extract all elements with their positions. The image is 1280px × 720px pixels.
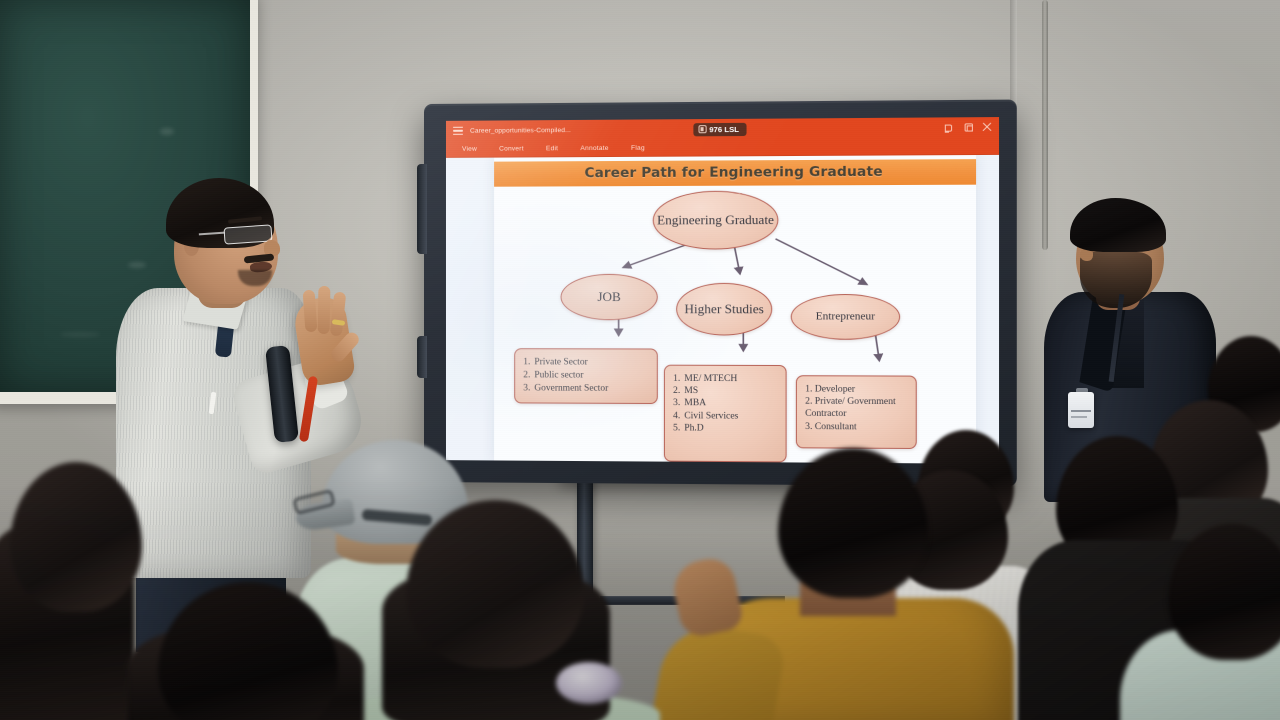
slide-page: Career Path for Engineering Graduate	[494, 155, 976, 464]
slide-title-banner: Career Path for Engineering Graduate	[494, 159, 976, 187]
list-item: 4.Civil Services	[673, 410, 778, 423]
finger	[318, 286, 331, 334]
node-job: JOB	[561, 274, 658, 320]
shield-icon	[698, 125, 706, 133]
node-label: Entrepreneur	[816, 311, 875, 324]
item-text: ME/ MTECH	[684, 373, 737, 386]
item-text: Government Sector	[534, 382, 608, 395]
node-engineering-graduate: Engineering Graduate	[653, 191, 779, 250]
list-item: 2. Private/ Government Contractor	[805, 396, 908, 421]
list-item: 3. Consultant	[805, 421, 908, 434]
menu-item-annotate[interactable]: Annotate	[580, 144, 608, 151]
node-label: Higher Studies	[684, 302, 763, 317]
display-bezel: Career_opportunities-Compiled... 976 LSL	[424, 100, 1017, 487]
classroom-scene: Career_opportunities-Compiled... 976 LSL	[0, 0, 1280, 720]
list-item: 2.MS	[673, 385, 778, 398]
node-label: JOB	[597, 290, 620, 305]
item-number: 3.	[805, 422, 812, 432]
slide-title: Career Path for Engineering Graduate	[585, 165, 883, 182]
document-filename: Career_opportunities-Compiled...	[470, 127, 571, 135]
window-controls[interactable]	[945, 123, 992, 132]
lsl-badge: 976 LSL	[693, 122, 746, 135]
item-number: 1.	[673, 373, 680, 385]
close-icon[interactable]	[982, 123, 991, 132]
list-item: 1.Private Sector	[523, 356, 649, 369]
item-text: Private/ Government Contractor	[805, 397, 896, 420]
list-item: 2.Public sector	[523, 369, 649, 382]
lsl-badge-text: 976 LSL	[709, 124, 739, 133]
finger	[303, 290, 318, 333]
id-badge	[1068, 392, 1094, 428]
audience-member-mustard-shirt	[700, 448, 1000, 720]
item-text: Private Sector	[534, 356, 587, 369]
item-number: 3.	[523, 382, 530, 395]
node-higher-studies: Higher Studies	[676, 283, 772, 336]
display-screen[interactable]: Career_opportunities-Compiled... 976 LSL	[446, 117, 999, 464]
display-side-port	[417, 336, 427, 378]
item-text: Public sector	[534, 369, 583, 382]
item-text: Developer	[815, 384, 855, 394]
item-text: Ph.D	[684, 422, 703, 434]
box-job-options: 1.Private Sector 2.Public sector 3.Gover…	[514, 348, 658, 404]
item-number: 2.	[805, 397, 812, 407]
item-number: 5.	[673, 422, 680, 434]
item-number: 4.	[673, 410, 680, 422]
document-canvas[interactable]: Career Path for Engineering Graduate	[446, 155, 999, 464]
display-side-button[interactable]	[417, 164, 427, 254]
job-list: 1.Private Sector 2.Public sector 3.Gover…	[515, 349, 657, 401]
box-entrepreneur-options: 1. Developer 2. Private/ Government Cont…	[796, 375, 917, 449]
hamburger-menu-icon[interactable]	[453, 126, 463, 135]
menu-item-convert[interactable]: Convert	[499, 145, 524, 152]
list-item: 1. Developer	[805, 383, 908, 396]
list-item: 3.Government Sector	[523, 382, 649, 396]
item-text: MBA	[684, 398, 706, 410]
item-number: 1.	[523, 356, 530, 369]
item-number: 2.	[523, 369, 530, 382]
list-item: 3.MBA	[673, 397, 778, 410]
item-number: 1.	[805, 384, 812, 394]
item-text: MS	[684, 385, 698, 397]
share-icon[interactable]	[945, 123, 954, 132]
hair	[1070, 198, 1166, 252]
item-number: 2.	[673, 385, 680, 397]
interactive-display[interactable]: Career_opportunities-Compiled... 976 LSL	[424, 104, 1004, 482]
head	[778, 448, 928, 598]
menu-item-view[interactable]: View	[462, 145, 477, 152]
higher-studies-list: 1.ME/ MTECH 2.MS 3.MBA 4.Civil Services …	[665, 366, 786, 440]
list-item: 1.ME/ MTECH	[673, 373, 778, 386]
item-number: 3.	[673, 397, 680, 409]
node-entrepreneur: Entrepreneur	[791, 294, 900, 340]
pdf-viewer-app[interactable]: Career_opportunities-Compiled... 976 LSL	[446, 117, 999, 464]
menu-item-edit[interactable]: Edit	[546, 145, 558, 152]
restore-icon[interactable]	[964, 123, 973, 132]
list-item: 5.Ph.D	[673, 422, 778, 435]
item-text: Civil Services	[684, 410, 738, 423]
career-path-diagram: Engineering Graduate JOB Higher Studies …	[494, 186, 976, 464]
entrepreneur-list: 1. Developer 2. Private/ Government Cont…	[797, 376, 916, 438]
hair-scrunchie	[556, 662, 622, 704]
menu-item-flag[interactable]: Flag	[631, 144, 645, 151]
item-text: Consultant	[815, 422, 857, 432]
node-label: Engineering Graduate	[657, 213, 774, 228]
